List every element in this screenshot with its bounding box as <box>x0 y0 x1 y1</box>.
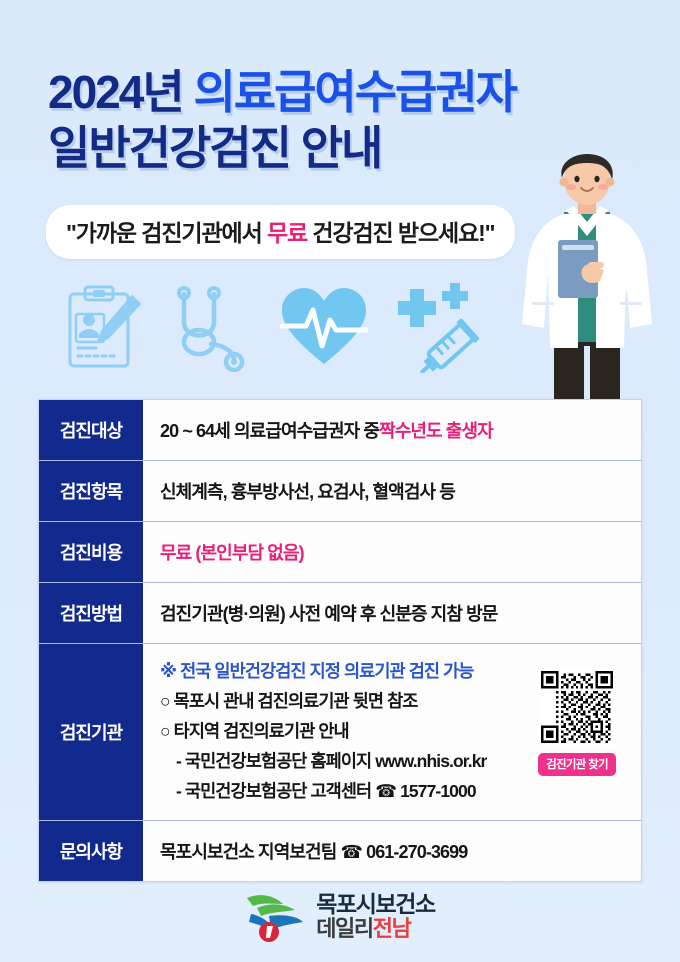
footer-org-name: 목포시보건소 <box>316 892 435 917</box>
row-label-items: 검진항목 <box>39 461 144 521</box>
row-value-target: 20 ~ 64세 의료급여수급권자 중 짝수년도 출생자 <box>144 400 641 460</box>
row-label-cost: 검진비용 <box>39 522 144 582</box>
table-row: 검진항목 신체계측, 흉부방사선, 요검사, 혈액검사 등 <box>39 461 641 522</box>
row-value-contact: 목포시보건소 지역보건팀 ☎ 061-270-3699 <box>144 821 641 881</box>
table-row: 검진방법 검진기관(병·의원) 사전 예약 후 신분증 지참 방문 <box>39 583 641 644</box>
subtitle-highlight: 무료 <box>267 220 307 246</box>
footer: 목포시보건소 데일리전남 <box>0 890 680 942</box>
footer-logo-marks: 목포시보건소 데일리전남 <box>245 890 435 942</box>
row-value-plain: 20 ~ 64세 의료급여수급권자 중 <box>160 417 379 443</box>
table-row-agency: 검진기관 ※ 전국 일반건강검진 지정 의료기관 검진 가능 ○ 목포시 관내 … <box>39 644 641 821</box>
cross-syringe-icon <box>394 283 486 373</box>
table-row: 문의사항 목포시보건소 지역보건팀 ☎ 061-270-3699 <box>39 821 641 881</box>
qr-badge-label[interactable]: 검진기관 찾기 <box>538 753 616 776</box>
agency-line-heading: ※ 전국 일반건강검진 지정 의료기관 검진 가능 <box>160 656 560 686</box>
stethoscope-icon <box>170 284 254 372</box>
row-value-cost-highlight: 무료 (본인부담 없음) <box>160 539 304 565</box>
agency-line-local: ○ 목포시 관내 검진의료기관 뒷면 참조 <box>160 686 560 716</box>
row-label-method: 검진방법 <box>39 583 144 643</box>
table-row: 검진대상 20 ~ 64세 의료급여수급권자 중 짝수년도 출생자 <box>39 400 641 461</box>
row-value-highlight: 짝수년도 출생자 <box>379 417 493 443</box>
row-label-contact: 문의사항 <box>39 821 144 881</box>
footer-media-name: 데일리전남 <box>316 917 435 941</box>
row-value-agency: ※ 전국 일반건강검진 지정 의료기관 검진 가능 ○ 목포시 관내 검진의료기… <box>144 644 641 820</box>
subtitle-text: "가까운 검진기관에서 무료 건강검진 받으세요!" <box>66 214 495 248</box>
title-line-1: 2024년 의료급여수급권자 <box>48 64 638 120</box>
heart-ecg-icon <box>280 286 368 370</box>
mokpo-bird-logo-icon <box>245 890 307 942</box>
qr-code[interactable] <box>538 668 616 746</box>
doctor-illustration <box>492 152 680 407</box>
title-audience: 의료급여수급권자 <box>193 66 516 118</box>
row-label-target: 검진대상 <box>39 400 144 460</box>
medical-icon-strip <box>62 278 502 378</box>
title-line-2: 일반건강검진 안내 <box>48 120 638 176</box>
subtitle-suffix: 건강검진 받으세요!" <box>307 220 494 246</box>
row-label-agency: 검진기관 <box>39 644 144 820</box>
footer-media-highlight: 전남 <box>373 916 411 941</box>
page-title: 2024년 의료급여수급권자 일반건강검진 안내 <box>48 64 638 176</box>
agency-line-callcenter: - 국민건강보험공단 고객센터 ☎ 1577-1000 <box>160 776 560 806</box>
agency-line-other-region: ○ 타지역 검진의료기관 안내 <box>160 716 560 746</box>
qr-block[interactable]: 검진기관 찾기 <box>531 668 623 776</box>
footer-media-prefix: 데일리 <box>316 916 373 941</box>
subtitle-banner: "가까운 검진기관에서 무료 건강검진 받으세요!" <box>46 205 515 259</box>
table-row: 검진비용 무료 (본인부담 없음) <box>39 522 641 583</box>
row-value-method: 검진기관(병·의원) 사전 예약 후 신분증 지참 방문 <box>144 583 641 643</box>
agency-line-website: - 국민건강보험공단 홈페이지 www.nhis.or.kr <box>160 746 560 776</box>
row-value-cost: 무료 (본인부담 없음) <box>144 522 641 582</box>
subtitle-prefix: "가까운 검진기관에서 <box>66 220 267 246</box>
info-table: 검진대상 20 ~ 64세 의료급여수급권자 중 짝수년도 출생자 검진항목 신… <box>38 399 642 882</box>
poster-root: 2024년 의료급여수급권자 일반건강검진 안내 "가까운 검진기관에서 무료 … <box>0 0 680 962</box>
footer-text: 목포시보건소 데일리전남 <box>316 892 435 941</box>
title-year: 2024년 <box>48 66 183 118</box>
clipboard-pencil-icon <box>62 284 144 372</box>
agency-line-list: ※ 전국 일반건강검진 지정 의료기관 검진 가능 ○ 목포시 관내 검진의료기… <box>160 656 560 806</box>
row-value-items: 신체계측, 흉부방사선, 요검사, 혈액검사 등 <box>144 461 641 521</box>
